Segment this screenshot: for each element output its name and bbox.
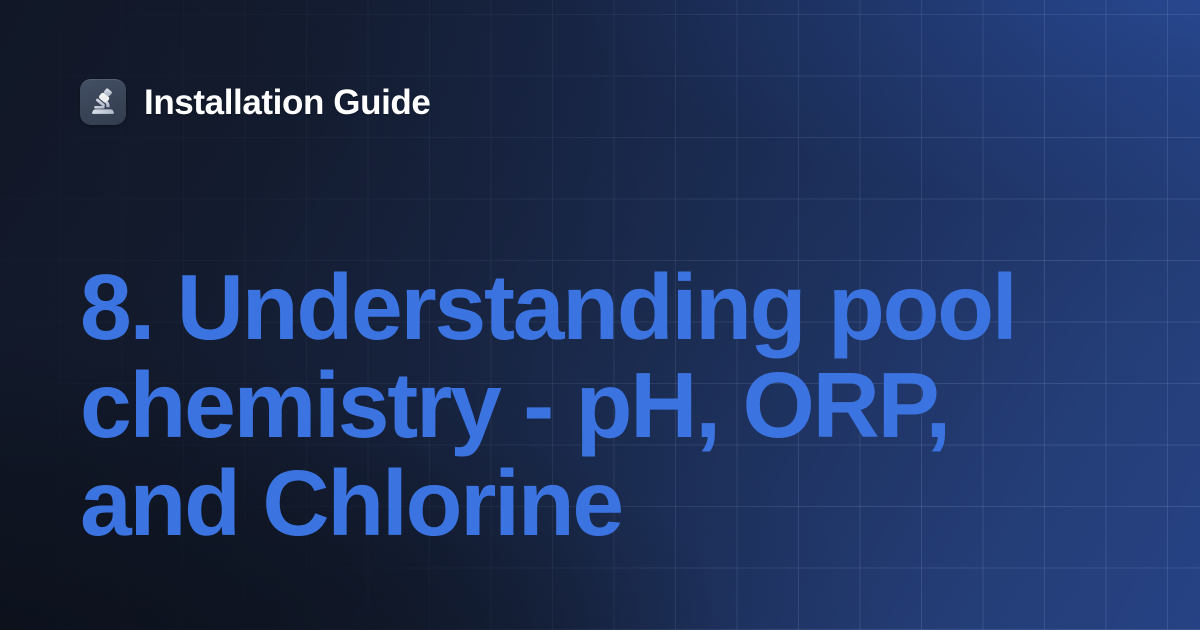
card-content: Installation Guide 8. Understanding pool… — [0, 0, 1200, 630]
og-card: Installation Guide 8. Understanding pool… — [0, 0, 1200, 630]
badge-label: Installation Guide — [144, 85, 430, 120]
badge: Installation Guide — [80, 79, 430, 125]
microscope-icon — [80, 79, 126, 125]
page-title: 8. Understanding pool chemistry - pH, OR… — [80, 258, 1110, 552]
